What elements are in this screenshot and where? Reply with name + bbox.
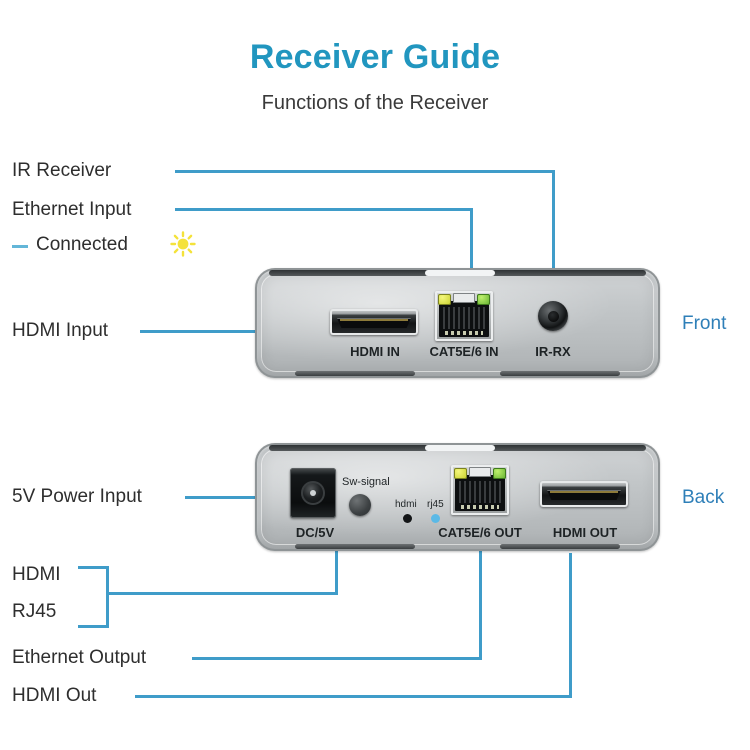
- silk-label-led-hdmi: hdmi: [395, 499, 417, 510]
- port-caption-cat5e6-out: CAT5E/6 OUT: [427, 525, 533, 540]
- rj45-led-left-icon: [438, 294, 451, 305]
- port-dc-5v: [290, 468, 336, 518]
- page-title: Receiver Guide: [0, 38, 750, 77]
- receiver-back-panel: DC/5V Sw-signal hdmi rj45 CAT5E/6 OUT HD…: [255, 443, 660, 551]
- side-label-back: Back: [682, 487, 724, 509]
- callout-label-5v-power-input: 5V Power Input: [12, 486, 142, 508]
- leader-line-hdmi-out-h: [135, 695, 572, 698]
- callout-label-hdmi-input: HDMI Input: [12, 320, 108, 342]
- leader-line-5v-power-input: [185, 496, 265, 499]
- leader-line-ethernet-output-v: [479, 551, 482, 660]
- callout-label-ethernet-input: Ethernet Input: [12, 199, 131, 221]
- leader-line-hdmi-rj45-h: [106, 592, 338, 595]
- sw-signal-button[interactable]: [349, 494, 371, 516]
- led-rj45-icon: [431, 514, 440, 523]
- port-caption-ir-rx: IR-RX: [513, 344, 593, 359]
- rj45-out-led-left-icon: [454, 468, 467, 479]
- port-caption-cat5e6-in: CAT5E/6 IN: [414, 344, 514, 359]
- port-caption-hdmi-out: HDMI OUT: [530, 525, 640, 540]
- port-cat5e6-in: [435, 291, 493, 341]
- port-hdmi-out: [540, 481, 628, 507]
- rj45-out-led-right-icon: [493, 468, 506, 479]
- receiver-guide-diagram: Receiver Guide Functions of the Receiver…: [0, 0, 750, 750]
- callout-label-hdmi: HDMI: [12, 564, 61, 586]
- callout-label-ir-receiver: IR Receiver: [12, 160, 111, 182]
- receiver-front-panel: HDMI IN CAT5E/6 IN IR-RX: [255, 268, 660, 378]
- leader-line-hdmi-out-v: [569, 553, 572, 698]
- silk-label-sw-signal: Sw-signal: [342, 476, 390, 488]
- led-hdmi-icon: [403, 514, 412, 523]
- callout-label-connected: Connected: [36, 234, 128, 256]
- leader-line-ethernet-input-h: [175, 208, 473, 211]
- port-cat5e6-out: [451, 465, 509, 515]
- connected-dash-icon: [12, 245, 28, 248]
- port-hdmi-in: [330, 309, 418, 335]
- side-label-front: Front: [682, 313, 726, 335]
- port-caption-dc-5v: DC/5V: [275, 525, 355, 540]
- bracket-hdmi-rj45: [78, 566, 109, 628]
- port-ir-rx: [538, 301, 568, 331]
- sun-icon: [170, 231, 196, 257]
- leader-line-ir-receiver-h: [175, 170, 555, 173]
- silk-label-led-rj45: rj45: [427, 499, 444, 510]
- callout-label-rj45: RJ45: [12, 601, 56, 623]
- rj45-led-right-icon: [477, 294, 490, 305]
- page-subtitle: Functions of the Receiver: [0, 92, 750, 115]
- leader-line-ethernet-output-h: [192, 657, 482, 660]
- callout-label-hdmi-out: HDMI Out: [12, 685, 96, 707]
- callout-label-ethernet-output: Ethernet Output: [12, 647, 146, 669]
